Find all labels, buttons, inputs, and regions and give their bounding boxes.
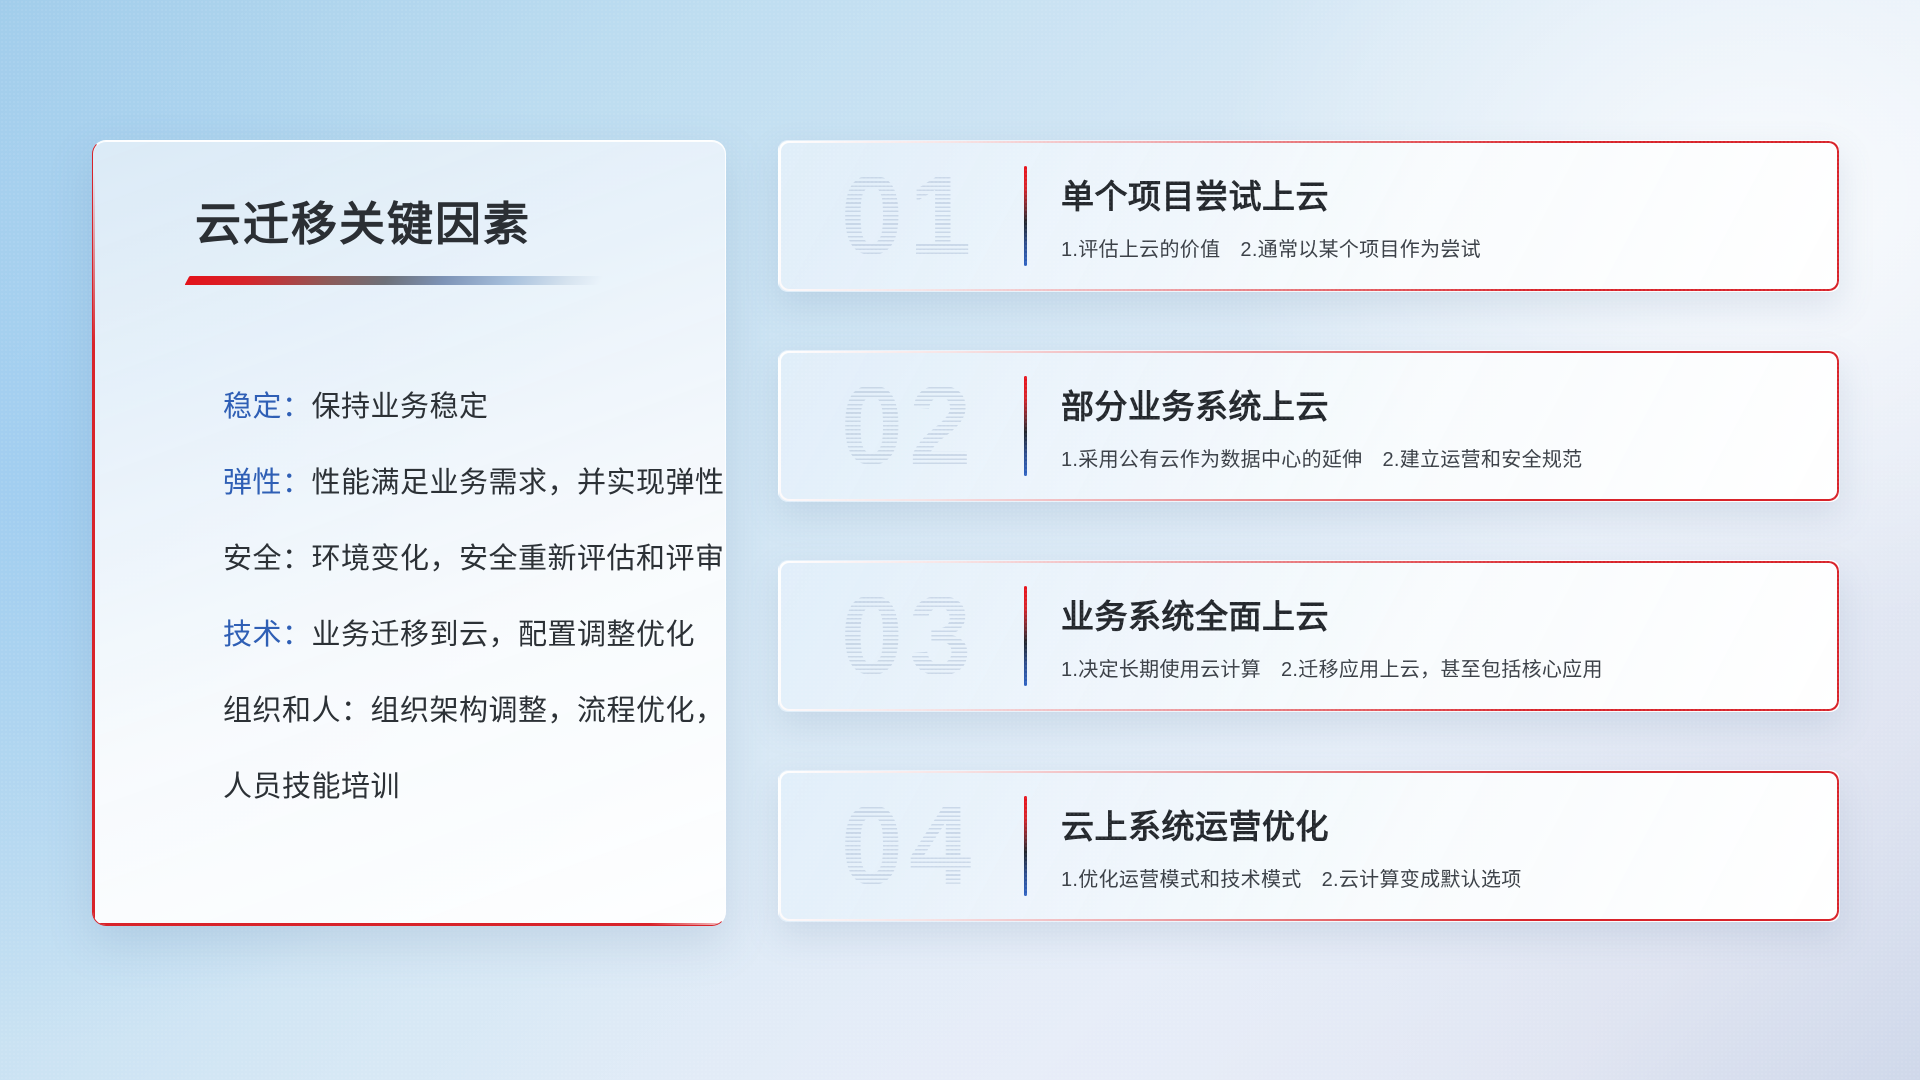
- step-point-2: 2.迁移应用上云，甚至包括核心应用: [1281, 659, 1603, 681]
- list-item: 安全：环境变化，安全重新评估和评审: [223, 521, 693, 597]
- factor-label: 安全：: [223, 543, 312, 575]
- step-text-block: 单个项目尝试上云 1.评估上云的价值2.通常以某个项目作为尝试: [1061, 170, 1815, 262]
- step-text-block: 部分业务系统上云 1.采用公有云作为数据中心的延伸2.建立运营和安全规范: [1061, 380, 1815, 472]
- step-description: 1.优化运营模式和技术模式2.云计算变成默认选项: [1061, 863, 1815, 892]
- migration-steps-list: 01 单个项目尝试上云 1.评估上云的价值2.通常以某个项目作为尝试 02 部分…: [778, 140, 1840, 980]
- step-accent-bar: [1024, 376, 1027, 476]
- step-description: 1.评估上云的价值2.通常以某个项目作为尝试: [1061, 233, 1815, 262]
- slide-canvas: 云迁移关键因素 稳定：保持业务稳定 弹性：性能满足业务需求，并实现弹性 安全：环…: [0, 0, 1920, 1080]
- step-card-03[interactable]: 03 业务系统全面上云 1.决定长期使用云计算2.迁移应用上云，甚至包括核心应用: [778, 560, 1840, 712]
- step-card-04[interactable]: 04 云上系统运营优化 1.优化运营模式和技术模式2.云计算变成默认选项: [778, 770, 1840, 922]
- factor-text: 保持业务稳定: [312, 391, 489, 423]
- step-accent-bar: [1024, 586, 1027, 686]
- step-text-block: 云上系统运营优化 1.优化运营模式和技术模式2.云计算变成默认选项: [1061, 800, 1815, 892]
- factor-text: 组织架构调整，流程优化，: [371, 695, 725, 727]
- list-item: 弹性：性能满足业务需求，并实现弹性: [223, 445, 693, 521]
- factor-label: 技术：: [223, 619, 312, 651]
- step-number: 04: [803, 786, 1015, 906]
- step-description: 1.决定长期使用云计算2.迁移应用上云，甚至包括核心应用: [1061, 653, 1815, 682]
- step-point-1: 1.采用公有云作为数据中心的延伸: [1061, 449, 1362, 471]
- factor-text: 性能满足业务需求，并实现弹性: [312, 467, 725, 499]
- step-number: 03: [803, 576, 1015, 696]
- step-number: 01: [803, 156, 1015, 276]
- step-title: 单个项目尝试上云: [1061, 170, 1815, 218]
- step-point-1: 1.决定长期使用云计算: [1061, 659, 1261, 681]
- factor-list: 稳定：保持业务稳定 弹性：性能满足业务需求，并实现弹性 安全：环境变化，安全重新…: [223, 369, 693, 825]
- factor-label: 稳定：: [223, 391, 312, 423]
- step-point-2: 2.建立运营和安全规范: [1382, 449, 1582, 471]
- factor-label: 组织和人：: [223, 695, 371, 727]
- page-title: 云迁移关键因素: [195, 188, 725, 254]
- step-point-1: 1.优化运营模式和技术模式: [1061, 869, 1302, 891]
- step-point-2: 2.通常以某个项目作为尝试: [1240, 239, 1481, 261]
- list-item: 人员技能培训: [223, 749, 693, 825]
- step-number: 02: [803, 366, 1015, 486]
- factor-text: 人员技能培训: [223, 771, 400, 803]
- key-factors-panel: 云迁移关键因素 稳定：保持业务稳定 弹性：性能满足业务需求，并实现弹性 安全：环…: [92, 140, 726, 926]
- step-title: 业务系统全面上云: [1061, 590, 1815, 638]
- factor-text: 环境变化，安全重新评估和评审: [312, 543, 725, 575]
- title-underline-rule: [185, 276, 604, 285]
- step-description: 1.采用公有云作为数据中心的延伸2.建立运营和安全规范: [1061, 443, 1815, 472]
- factor-text: 业务迁移到云，配置调整优化: [312, 619, 696, 651]
- step-card-01[interactable]: 01 单个项目尝试上云 1.评估上云的价值2.通常以某个项目作为尝试: [778, 140, 1840, 292]
- factor-label: 弹性：: [223, 467, 312, 499]
- step-title: 部分业务系统上云: [1061, 380, 1815, 428]
- step-point-2: 2.云计算变成默认选项: [1322, 869, 1522, 891]
- step-title: 云上系统运营优化: [1061, 800, 1815, 848]
- step-text-block: 业务系统全面上云 1.决定长期使用云计算2.迁移应用上云，甚至包括核心应用: [1061, 590, 1815, 682]
- step-accent-bar: [1024, 166, 1027, 266]
- step-card-02[interactable]: 02 部分业务系统上云 1.采用公有云作为数据中心的延伸2.建立运营和安全规范: [778, 350, 1840, 502]
- list-item: 技术：业务迁移到云，配置调整优化: [223, 597, 693, 673]
- step-accent-bar: [1024, 796, 1027, 896]
- list-item: 组织和人：组织架构调整，流程优化，: [223, 673, 693, 749]
- step-point-1: 1.评估上云的价值: [1061, 239, 1220, 261]
- list-item: 稳定：保持业务稳定: [223, 369, 693, 445]
